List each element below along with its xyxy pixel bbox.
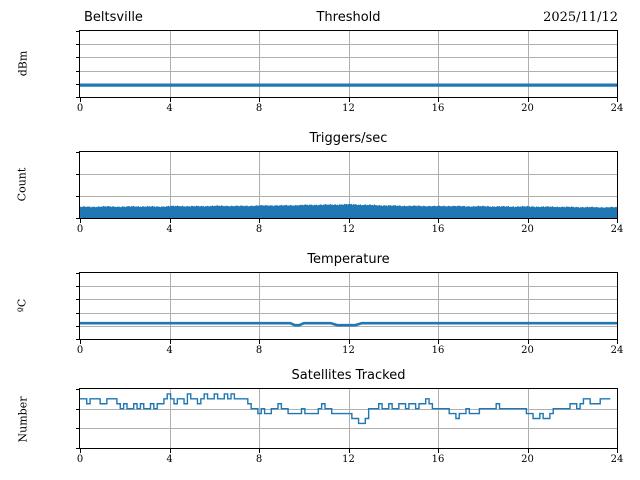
x-tick-mark: [528, 449, 529, 453]
x-tick-label: 16: [418, 104, 458, 114]
panel-title-triggers: Triggers/sec: [79, 131, 618, 146]
y-tick-mark: [76, 218, 80, 219]
x-tick-label: 12: [329, 455, 369, 465]
x-tick-label: 8: [239, 225, 279, 235]
line-series-temperature: [80, 323, 617, 325]
axes-threshold: [79, 30, 618, 98]
x-tick-label: 4: [150, 346, 190, 356]
y-tick-mark: [76, 273, 80, 274]
x-tick-mark: [170, 98, 171, 102]
y-tick-mark: [76, 389, 80, 390]
y-tick-mark: [76, 174, 80, 175]
y-tick-mark: [76, 152, 80, 153]
x-tick-label: 16: [418, 346, 458, 356]
y-tick-mark: [76, 97, 80, 98]
y-tick-mark: [76, 286, 80, 287]
y-tick-mark: [76, 326, 80, 327]
x-tick-label: 20: [508, 455, 548, 465]
y-tick-mark: [76, 71, 80, 72]
x-tick-mark: [528, 340, 529, 344]
panel-title-threshold: Threshold: [79, 10, 618, 25]
x-tick-mark: [259, 340, 260, 344]
series-plot: [80, 273, 617, 339]
ylabel-count: Count: [16, 155, 29, 215]
x-tick-label: 12: [329, 346, 369, 356]
x-tick-label: 24: [597, 455, 637, 465]
ylabel-celsius: ºC: [16, 276, 29, 336]
x-tick-label: 24: [597, 346, 637, 356]
axes-satellites: [79, 388, 618, 449]
x-tick-label: 16: [418, 225, 458, 235]
x-tick-mark: [80, 219, 81, 223]
x-tick-label: 12: [329, 225, 369, 235]
axes-temperature: [79, 272, 618, 340]
x-tick-label: 4: [150, 455, 190, 465]
x-tick-label: 12: [329, 104, 369, 114]
line-series-satellites: [80, 394, 610, 424]
x-tick-mark: [438, 340, 439, 344]
y-tick-mark: [76, 31, 80, 32]
x-tick-label: 8: [239, 104, 279, 114]
x-tick-label: 0: [60, 104, 100, 114]
y-tick-mark: [76, 448, 80, 449]
series-plot: [80, 152, 617, 218]
x-tick-mark: [349, 340, 350, 344]
x-tick-label: 0: [60, 455, 100, 465]
x-tick-mark: [259, 219, 260, 223]
x-tick-mark: [528, 219, 529, 223]
y-tick-mark: [76, 299, 80, 300]
x-tick-mark: [259, 98, 260, 102]
x-tick-mark: [617, 449, 618, 453]
x-tick-label: 20: [508, 346, 548, 356]
x-tick-label: 4: [150, 225, 190, 235]
ylabel-dbm: dBm: [17, 34, 30, 94]
x-tick-label: 8: [239, 455, 279, 465]
x-tick-mark: [80, 340, 81, 344]
x-tick-label: 4: [150, 104, 190, 114]
x-tick-mark: [80, 98, 81, 102]
ylabel-number: Number: [17, 385, 30, 455]
x-tick-mark: [349, 98, 350, 102]
x-tick-mark: [80, 449, 81, 453]
x-tick-mark: [259, 449, 260, 453]
y-tick-mark: [76, 84, 80, 85]
x-tick-label: 24: [597, 104, 637, 114]
x-tick-mark: [170, 340, 171, 344]
x-tick-mark: [349, 219, 350, 223]
x-tick-mark: [528, 98, 529, 102]
series-plot: [80, 389, 617, 448]
y-tick-mark: [76, 409, 80, 410]
axes-triggers: [79, 151, 618, 219]
x-tick-label: 20: [508, 104, 548, 114]
x-tick-mark: [170, 449, 171, 453]
y-tick-mark: [76, 313, 80, 314]
x-tick-mark: [617, 98, 618, 102]
panel-title-satellites: Satellites Tracked: [79, 368, 618, 383]
x-tick-mark: [438, 449, 439, 453]
x-tick-mark: [438, 219, 439, 223]
x-tick-label: 0: [60, 225, 100, 235]
x-tick-label: 8: [239, 346, 279, 356]
x-tick-label: 16: [418, 455, 458, 465]
y-tick-mark: [76, 44, 80, 45]
x-tick-label: 24: [597, 225, 637, 235]
y-tick-mark: [76, 196, 80, 197]
x-tick-mark: [617, 219, 618, 223]
y-tick-mark: [76, 339, 80, 340]
series-plot: [80, 31, 617, 97]
area-series-triggers: [80, 204, 617, 218]
x-tick-label: 0: [60, 346, 100, 356]
x-tick-label: 20: [508, 225, 548, 235]
y-tick-mark: [76, 57, 80, 58]
x-tick-mark: [349, 449, 350, 453]
panel-title-temperature: Temperature: [79, 252, 618, 267]
x-tick-mark: [438, 98, 439, 102]
y-tick-mark: [76, 428, 80, 429]
x-tick-mark: [617, 340, 618, 344]
x-tick-mark: [170, 219, 171, 223]
monitoring-figure: Beltsville 2025/11/12 Threshold dBm Trig…: [0, 0, 640, 480]
